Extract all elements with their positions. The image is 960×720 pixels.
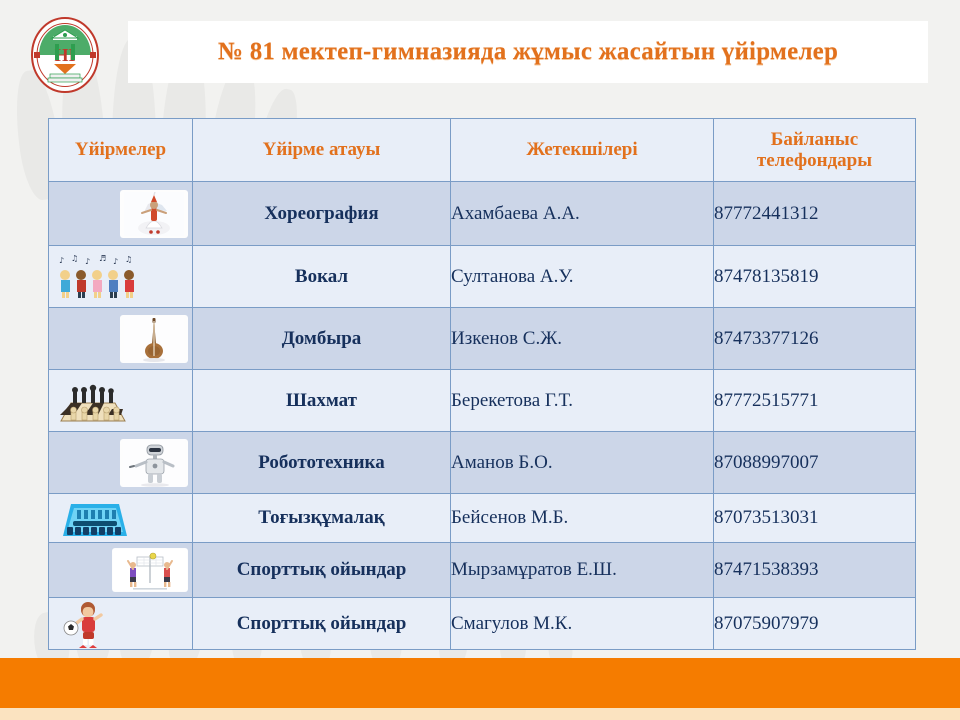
club-image-cell: ♪♫♪ ♬♪♫ bbox=[49, 246, 193, 308]
slide-header: НІ № 81 мектеп-гимназияда жұмыс жасайтын… bbox=[0, 0, 960, 100]
svg-text:♫: ♫ bbox=[71, 254, 78, 263]
club-phone: 87471538393 bbox=[714, 543, 916, 598]
page-title: № 81 мектеп-гимназияда жұмыс жасайтын үй… bbox=[218, 38, 838, 66]
svg-text:♬: ♬ bbox=[99, 254, 106, 263]
singing-kids-icon: ♪♫♪ ♬♪♫ bbox=[53, 253, 143, 301]
table-row: Домбыра Изкенов С.Ж. 87473377126 bbox=[49, 308, 916, 370]
footer-orange-bar bbox=[0, 658, 960, 708]
club-name: Робототехника bbox=[193, 432, 451, 494]
club-image-cell bbox=[49, 182, 193, 246]
club-image-cell bbox=[49, 370, 193, 432]
club-leader: Изкенов С.Ж. bbox=[451, 308, 714, 370]
club-leader: Смагулов М.К. bbox=[451, 598, 714, 650]
club-leader: Берекетова Г.Т. bbox=[451, 370, 714, 432]
club-name: Спорттық ойындар bbox=[193, 598, 451, 650]
club-name: Вокал bbox=[193, 246, 451, 308]
club-phone: 87088997007 bbox=[714, 432, 916, 494]
table-row: Робототехника Аманов Б.О. 87088997007 bbox=[49, 432, 916, 494]
club-name: Домбыра bbox=[193, 308, 451, 370]
svg-text:♫: ♫ bbox=[125, 255, 132, 264]
club-image-cell bbox=[49, 543, 193, 598]
table-row: Хореография Ахамбаева А.А. 87772441312 bbox=[49, 182, 916, 246]
title-banner: № 81 мектеп-гимназияда жұмыс жасайтын үй… bbox=[128, 21, 928, 83]
column-header-name: Үйірме атауы bbox=[193, 119, 451, 182]
svg-text:♪: ♪ bbox=[113, 257, 118, 266]
club-image-cell bbox=[49, 598, 193, 650]
club-image-cell bbox=[49, 494, 193, 543]
chessboard-icon bbox=[53, 377, 133, 425]
column-header-clubs: Үйірмелер bbox=[49, 119, 193, 182]
club-phone: 87473377126 bbox=[714, 308, 916, 370]
table-row: Тоғызқұмалақ Бейсенов М.Б. 87073513031 bbox=[49, 494, 916, 543]
club-image-cell bbox=[49, 308, 193, 370]
soccer-boy-icon bbox=[53, 599, 123, 649]
footer-light-strip bbox=[0, 708, 960, 720]
club-name: Хореография bbox=[193, 182, 451, 246]
club-phone: 87772515771 bbox=[714, 370, 916, 432]
dancer-icon bbox=[120, 190, 188, 238]
club-leader: Бейсенов М.Б. bbox=[451, 494, 714, 543]
club-phone: 87075907979 bbox=[714, 598, 916, 650]
clubs-table: Үйірмелер Үйірме атауы Жетекшілері Байла… bbox=[48, 118, 916, 650]
table-row: ♪♫♪ ♬♪♫ bbox=[49, 246, 916, 308]
club-leader: Мырзамұратов Е.Ш. bbox=[451, 543, 714, 598]
clubs-table-container: Үйірмелер Үйірме атауы Жетекшілері Байла… bbox=[48, 118, 915, 650]
club-image-cell bbox=[49, 432, 193, 494]
table-row: Спорттық ойындар Смагулов М.К. 870759079… bbox=[49, 598, 916, 650]
club-phone: 87073513031 bbox=[714, 494, 916, 543]
svg-text:♪: ♪ bbox=[85, 257, 90, 266]
club-phone: 87772441312 bbox=[714, 182, 916, 246]
school-emblem-logo: НІ bbox=[28, 16, 102, 94]
club-name: Спорттық ойындар bbox=[193, 543, 451, 598]
table-header-row: Үйірмелер Үйірме атауы Жетекшілері Байла… bbox=[49, 119, 916, 182]
club-leader: Султанова А.У. bbox=[451, 246, 714, 308]
svg-text:♪: ♪ bbox=[59, 256, 64, 265]
table-row: Спорттық ойындар Мырзамұратов Е.Ш. 87471… bbox=[49, 543, 916, 598]
club-leader: Ахамбаева А.А. bbox=[451, 182, 714, 246]
robot-icon bbox=[120, 439, 188, 487]
club-name: Шахмат bbox=[193, 370, 451, 432]
dombra-icon bbox=[120, 315, 188, 363]
column-header-phones: Байланыс телефондары bbox=[714, 119, 916, 182]
club-leader: Аманов Б.О. bbox=[451, 432, 714, 494]
column-header-leaders: Жетекшілері bbox=[451, 119, 714, 182]
club-phone: 87478135819 bbox=[714, 246, 916, 308]
club-name: Тоғызқұмалақ bbox=[193, 494, 451, 543]
togyzkumalak-icon bbox=[53, 494, 137, 542]
table-row: Шахмат Берекетова Г.Т. 87772515771 bbox=[49, 370, 916, 432]
volleyball-icon bbox=[112, 548, 188, 592]
